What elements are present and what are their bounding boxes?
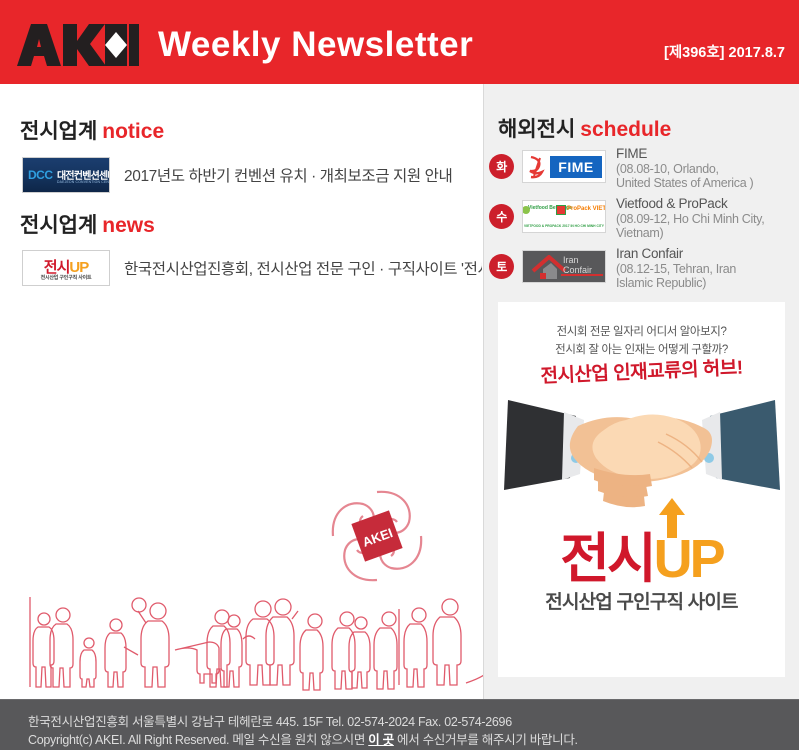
notice-article-row[interactable]: DCC 대전컨벤션센터 DAEJEON CONVENTION CENTER 20… bbox=[22, 157, 482, 193]
event-name: FIME bbox=[616, 146, 753, 162]
propack-label: ProPack VIETNAM bbox=[567, 206, 606, 212]
dcc-logo-thumbnail[interactable]: DCC 대전컨벤션센터 DAEJEON CONVENTION CENTER bbox=[22, 157, 110, 193]
day-badge: 수 bbox=[489, 204, 514, 229]
schedule-text: Iran Confair (08.12-15, Tehran, Iran Isl… bbox=[616, 246, 736, 291]
day-badge: 토 bbox=[489, 254, 514, 279]
page-title: Weekly Newsletter bbox=[158, 25, 473, 65]
vietfood-subtitle: VIETFOOD & PROPACK 2017 IN HO CHI MINH C… bbox=[523, 224, 605, 228]
handshake-illustration bbox=[498, 382, 785, 512]
schedule-item-fime[interactable]: 화 FIME FIME (08.08-10, Orlando, United S… bbox=[489, 146, 794, 190]
vietfood-dot-icon bbox=[522, 206, 530, 214]
dcc-name-en: DAEJEON CONVENTION CENTER bbox=[57, 180, 110, 184]
akei-logo[interactable] bbox=[17, 24, 139, 66]
ad-question-line1: 전시회 전문 일자리 어디서 알아보지? bbox=[498, 324, 785, 342]
iran-house-icon bbox=[531, 255, 567, 283]
ad-logo-kr: 전시 bbox=[560, 529, 653, 589]
fime-logo[interactable]: FIME bbox=[522, 150, 606, 183]
jeonsi-up-logo-thumbnail[interactable]: 전시UP 전시산업 구인구직 사이트 bbox=[22, 250, 110, 286]
iran-underline bbox=[561, 274, 603, 276]
page-header: Weekly Newsletter [제396호] 2017.8.7 bbox=[0, 0, 799, 84]
ad-tagline: 전시산업 구인구직 사이트 bbox=[498, 587, 785, 614]
akei-watermark-icon: AKEI bbox=[313, 472, 441, 600]
dcc-acronym: DCC bbox=[28, 168, 53, 182]
event-detail-line2: United States of America ) bbox=[616, 176, 753, 191]
vietfood-propack-logo[interactable]: Vietfood Beverage ProPack VIETNAM VIETFO… bbox=[522, 200, 606, 233]
schedule-item-iran-confair[interactable]: 토 Iran Confair bbox=[489, 246, 794, 290]
fime-wordmark: FIME bbox=[550, 156, 602, 178]
event-detail-line2: Vietnam) bbox=[616, 226, 764, 241]
schedule-section-heading: 해외전시schedule bbox=[498, 113, 671, 143]
event-detail-line1: (08.09-12, Ho Chi Minh City, bbox=[616, 212, 764, 227]
fime-mark-icon bbox=[527, 155, 549, 179]
schedule-heading-kr: 해외전시 bbox=[498, 118, 575, 141]
news-heading-en: news bbox=[102, 214, 155, 237]
schedule-text: Vietfood & ProPack (08.09-12, Ho Chi Min… bbox=[616, 196, 764, 241]
event-name: Vietfood & ProPack bbox=[616, 196, 764, 212]
schedule-item-vietfood[interactable]: 수 Vietfood Beverage ProPack VIETNAM VIET… bbox=[489, 196, 794, 240]
news-heading-kr: 전시업계 bbox=[20, 214, 97, 237]
page-footer: 한국전시산업진흥회 서울특별시 강남구 테헤란로 445. 15F Tel. 0… bbox=[0, 699, 799, 750]
notice-section-heading: 전시업계notice bbox=[20, 115, 164, 145]
event-detail-line1: (08.12-15, Tehran, Iran bbox=[616, 262, 736, 277]
iran-wordmark: Iran Confair bbox=[563, 256, 592, 276]
notice-heading-kr: 전시업계 bbox=[20, 120, 97, 143]
sidebar: 해외전시schedule 화 FIME FIME (08.08 bbox=[484, 84, 799, 699]
people-silhouettes-illustration bbox=[0, 595, 484, 691]
ad-logo-en: UP bbox=[654, 529, 723, 589]
propack-wordmark: ProPack VIETNAM bbox=[567, 206, 606, 213]
propack-square-icon bbox=[556, 205, 566, 215]
schedule-list: 화 FIME FIME (08.08-10, Orlando, United S… bbox=[489, 146, 794, 296]
unsubscribe-link[interactable]: 이 곳 bbox=[368, 733, 394, 747]
newsletter-page: Weekly Newsletter [제396호] 2017.8.7 전시업계n… bbox=[0, 0, 799, 750]
schedule-heading-en: schedule bbox=[580, 118, 671, 141]
footer-copyright-after: 에서 수신거부를 해주시기 바랍니다. bbox=[394, 733, 578, 747]
event-detail-line1: (08.08-10, Orlando, bbox=[616, 162, 753, 177]
footer-address: 한국전시산업진흥회 서울특별시 강남구 테헤란로 445. 15F Tel. 0… bbox=[28, 711, 512, 730]
jeonsi-up-tagline: 전시산업 구인구직 사이트 bbox=[23, 274, 109, 281]
schedule-text: FIME (08.08-10, Orlando, United States o… bbox=[616, 146, 753, 191]
notice-article-title[interactable]: 2017년도 하반기 컨벤션 유치 · 개최보조금 지원 안내 bbox=[124, 164, 452, 186]
main-content: 전시업계notice DCC 대전컨벤션센터 DAEJEON CONVENTIO… bbox=[0, 84, 484, 699]
notice-heading-en: notice bbox=[102, 120, 164, 143]
footer-copyright-before: Copyright(c) AKEI. All Right Reserved. 메… bbox=[28, 733, 368, 747]
jeonsi-up-ad-banner[interactable]: 전시회 전문 일자리 어디서 알아보지? 전시회 잘 아는 인재는 어떻게 구할… bbox=[498, 302, 785, 677]
news-article-row[interactable]: 전시UP 전시산업 구인구직 사이트 한국전시산업진흥회, 전시산업 전문 구인… bbox=[22, 250, 482, 286]
iran-confair-logo[interactable]: Iran Confair bbox=[522, 250, 606, 283]
day-badge: 화 bbox=[489, 154, 514, 179]
footer-copyright: Copyright(c) AKEI. All Right Reserved. 메… bbox=[28, 729, 578, 748]
jeonsi-up-ad-wordmark: 전시UP bbox=[498, 514, 785, 593]
event-detail-line2: Islamic Republic) bbox=[616, 276, 736, 291]
issue-label: [제396호] 2017.8.7 bbox=[664, 41, 785, 62]
news-section-heading: 전시업계news bbox=[20, 209, 155, 239]
news-article-title[interactable]: 한국전시산업진흥회, 전시산업 전문 구인 · 구직사이트 '전시 UP 오픈 bbox=[124, 257, 482, 279]
event-name: Iran Confair bbox=[616, 246, 736, 262]
